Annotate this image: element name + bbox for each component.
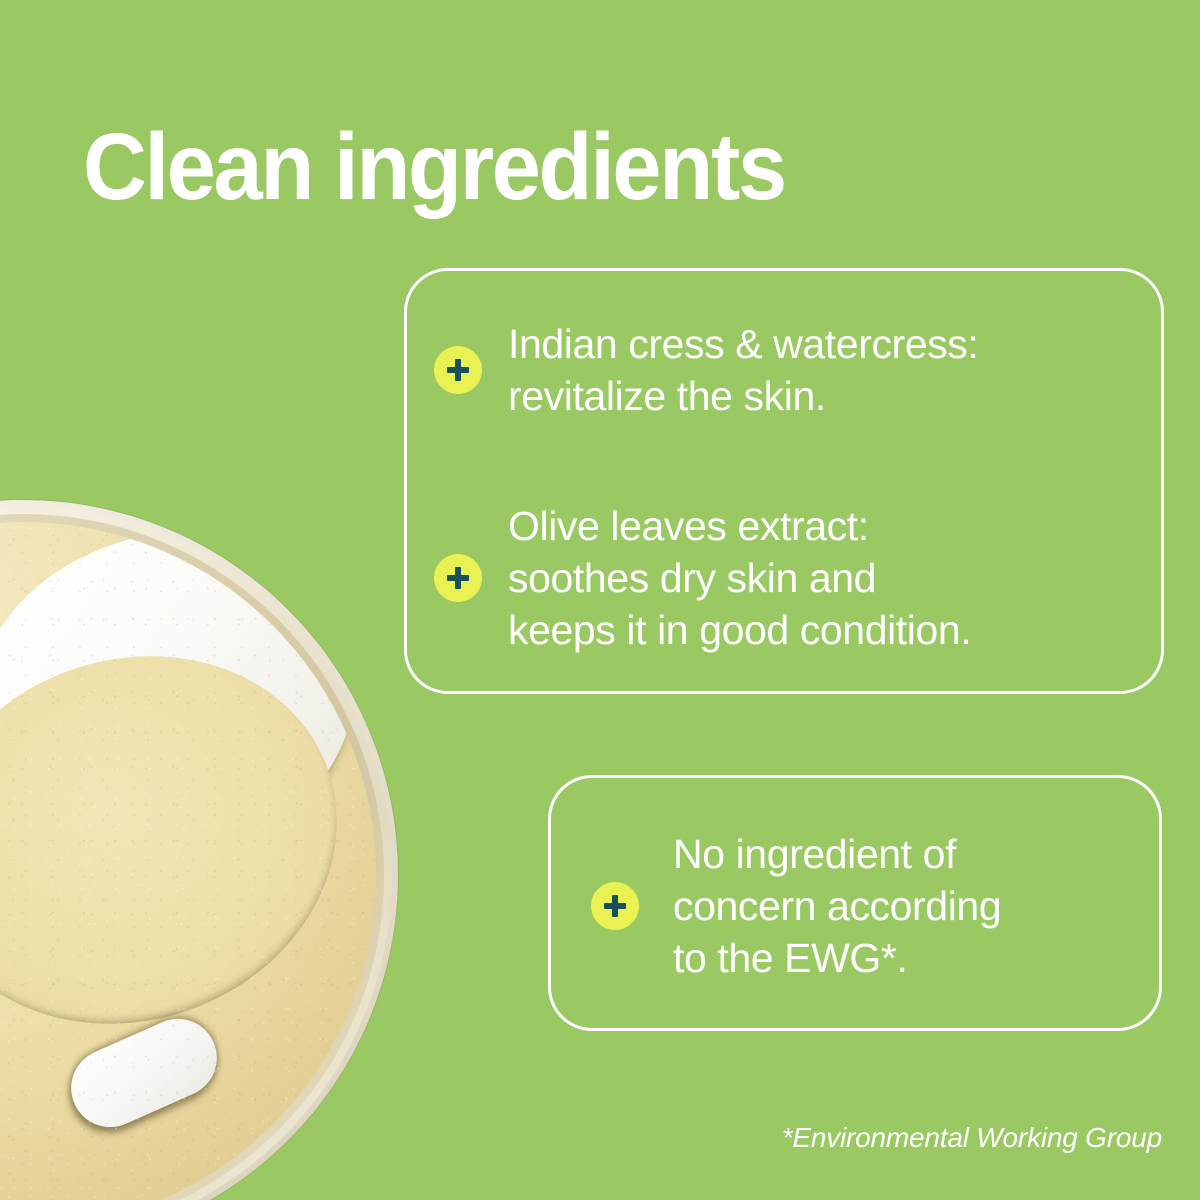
dish-inner-rim xyxy=(0,514,384,1200)
footnote: *Environmental Working Group xyxy=(782,1122,1162,1154)
dish-gel-body xyxy=(0,599,376,1081)
plus-icon xyxy=(434,346,482,394)
bullet-olive-leaves-label: Olive leaves extract: soothes dry skin a… xyxy=(508,500,971,656)
dish-glass-gloss xyxy=(0,522,376,1200)
dish-rim xyxy=(0,506,392,1200)
dish-oblong-highlight xyxy=(59,1006,230,1139)
bullet-indian-cress-label: Indian cress & watercress: revitalize th… xyxy=(508,318,978,422)
bullet-indian-cress: Indian cress & watercress: revitalize th… xyxy=(434,318,978,422)
bullet-ewg-label: No ingredient of concern according to th… xyxy=(673,828,1001,984)
dish-outer-ring xyxy=(0,500,398,1200)
dish-crescent-highlight xyxy=(0,522,376,941)
petri-dish-photo xyxy=(0,500,398,1200)
bullet-ewg: No ingredient of concern according to th… xyxy=(591,828,1001,984)
plus-icon xyxy=(591,882,639,930)
plus-icon xyxy=(434,554,482,602)
page-title: Clean ingredients xyxy=(83,120,785,215)
dish-gel-surface xyxy=(0,522,376,1200)
infographic-canvas: Clean ingredients Indian cress & watercr… xyxy=(0,0,1200,1200)
bullet-olive-leaves: Olive leaves extract: soothes dry skin a… xyxy=(434,500,971,656)
